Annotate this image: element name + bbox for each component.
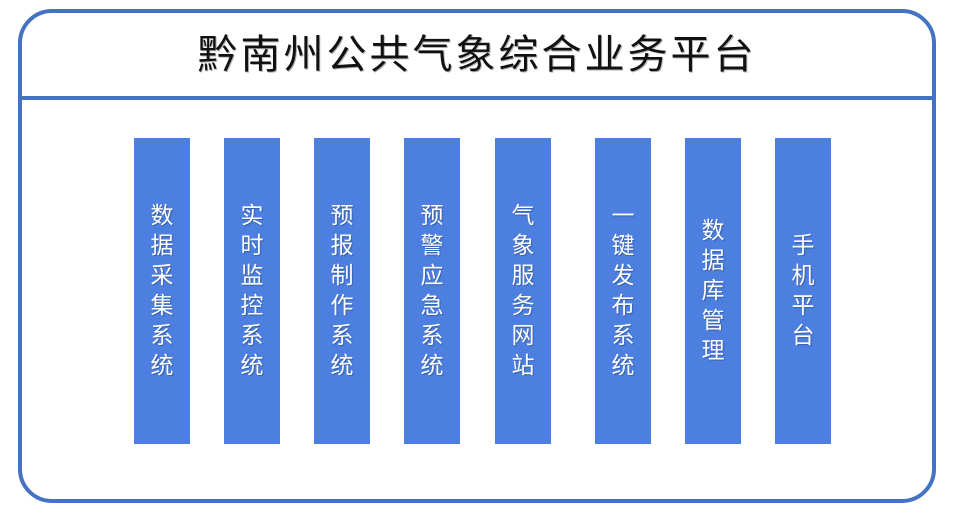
diagram-canvas: 黔南州公共气象综合业务平台 数据采集系统 实时监控系统 预报制作系统 预警应急系… — [0, 0, 953, 515]
system-box-label: 数据采集系统 — [147, 201, 177, 381]
system-columns-group: 数据采集系统 实时监控系统 预报制作系统 预警应急系统 气象服务网站 一键发布系… — [134, 138, 831, 444]
system-box-label: 预报制作系统 — [327, 201, 357, 381]
system-box-mobile-platform[interactable]: 手机平台 — [775, 138, 831, 444]
system-box-one-key-publish[interactable]: 一键发布系统 — [595, 138, 651, 444]
system-box-warning-emergency[interactable]: 预警应急系统 — [404, 138, 460, 444]
system-box-data-collection[interactable]: 数据采集系统 — [134, 138, 190, 444]
system-box-label: 数据库管理 — [698, 216, 728, 366]
system-box-label: 手机平台 — [788, 231, 818, 351]
system-box-label: 预警应急系统 — [417, 201, 447, 381]
system-box-label: 实时监控系统 — [237, 201, 267, 381]
title-divider — [20, 96, 934, 100]
system-box-label: 气象服务网站 — [508, 201, 538, 381]
title-bar: 黔南州公共气象综合业务平台 — [20, 13, 934, 96]
system-box-forecast-production[interactable]: 预报制作系统 — [314, 138, 370, 444]
system-box-label: 一键发布系统 — [608, 201, 638, 381]
system-box-realtime-monitoring[interactable]: 实时监控系统 — [224, 138, 280, 444]
system-box-database-management[interactable]: 数据库管理 — [685, 138, 741, 444]
page-title: 黔南州公共气象综合业务平台 — [198, 35, 757, 75]
system-box-weather-service-website[interactable]: 气象服务网站 — [495, 138, 551, 444]
